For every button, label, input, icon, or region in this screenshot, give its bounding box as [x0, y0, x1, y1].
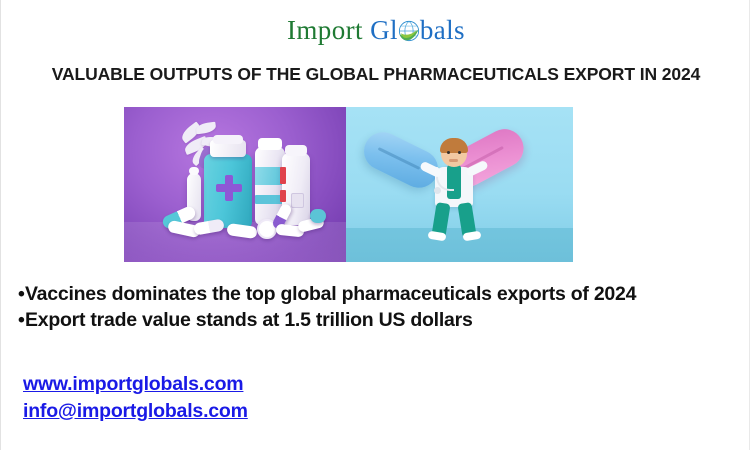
bullet-text: Export trade value stands at 1.5 trillio…	[25, 309, 473, 331]
list-item: •Export trade value stands at 1.5 trilli…	[18, 307, 734, 333]
bullet-marker: •	[18, 281, 25, 307]
contact-links: www.importglobals.com info@importglobals…	[23, 371, 248, 425]
pharma-bottles-image	[124, 107, 346, 262]
bottle-clear-cap	[258, 138, 282, 150]
right-image-floor	[346, 228, 573, 262]
stethoscope-chestpiece	[434, 187, 441, 194]
logo-word-import: Import	[287, 15, 363, 45]
image-band	[124, 107, 573, 262]
bullet-text: Vaccines dominates the top global pharma…	[25, 283, 636, 305]
bottle-white-red-marker	[280, 190, 286, 202]
bottle-small-cap	[189, 167, 199, 175]
website-link[interactable]: www.importglobals.com	[23, 371, 248, 398]
bullet-list: •Vaccines dominates the top global pharm…	[18, 281, 734, 333]
logo-text: Import Gl bals	[287, 17, 465, 44]
bottle-white-cap	[285, 145, 307, 156]
doctor-eye	[447, 151, 450, 154]
medical-cross	[216, 184, 242, 192]
doctor-eye	[458, 151, 461, 154]
page-title: VALUABLE OUTPUTS OF THE GLOBAL PHARMACEU…	[1, 64, 750, 85]
logo-word-gl: Gl	[370, 15, 398, 45]
logo-word-bals: bals	[420, 15, 465, 45]
bullet-marker: •	[18, 307, 25, 333]
globe-icon	[398, 20, 420, 42]
doctor-hair	[440, 138, 468, 153]
bottle-white-red-marker	[280, 167, 286, 184]
doctor-mouth	[449, 159, 458, 162]
brand-logo[interactable]: Import Gl bals	[1, 17, 750, 44]
email-link[interactable]: info@importglobals.com	[23, 398, 248, 425]
slide-canvas: Import Gl bals VALUABLE OUTPUTS OF THE G…	[0, 0, 750, 450]
bottle-main-neck	[213, 135, 243, 144]
capsule-round	[310, 209, 326, 223]
doctor-capsules-image	[346, 107, 573, 262]
bottle-white-label	[291, 193, 304, 208]
list-item: •Vaccines dominates the top global pharm…	[18, 281, 734, 307]
